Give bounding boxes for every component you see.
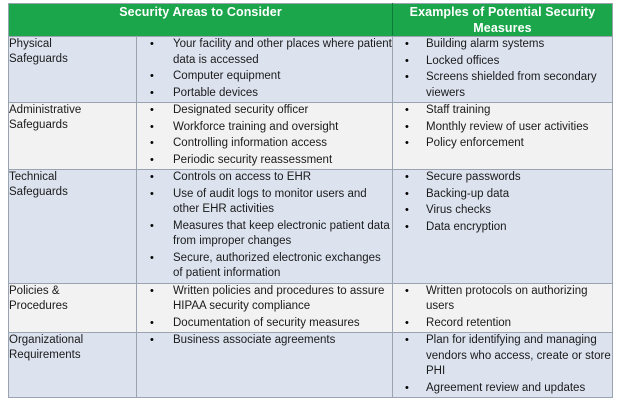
bullet-list-item: •Written policies and procedures to assu… bbox=[137, 284, 392, 315]
bullet-icon: • bbox=[150, 284, 154, 300]
row-category-label: Technical bbox=[9, 170, 136, 185]
bullet-list: •Plan for identifying and managing vendo… bbox=[393, 333, 612, 396]
bullet-item-text: Agreement review and updates bbox=[426, 382, 585, 394]
bullet-list-item: •Policy enforcement bbox=[393, 136, 612, 152]
bullet-list-item: •Monthly review of user activities bbox=[393, 120, 612, 136]
row-category-label: Policies & bbox=[9, 284, 136, 299]
row-category-label: Safeguards bbox=[9, 52, 136, 67]
bullet-icon: • bbox=[150, 333, 154, 349]
bullet-list-item: •Plan for identifying and managing vendo… bbox=[393, 333, 612, 380]
table-row: TechnicalSafeguards•Controls on access t… bbox=[9, 170, 613, 284]
bullet-list-item: •Backing-up data bbox=[393, 187, 612, 203]
bullet-icon: • bbox=[150, 316, 154, 332]
bullet-list-item: •Staff training bbox=[393, 103, 612, 119]
bullet-icon: • bbox=[405, 120, 409, 136]
bullet-list-item: •Business associate agreements bbox=[137, 333, 392, 349]
bullet-list-item: •Portable devices bbox=[137, 86, 392, 102]
bullet-icon: • bbox=[150, 187, 154, 203]
bullet-list-item: •Computer equipment bbox=[137, 69, 392, 85]
bullet-icon: • bbox=[150, 69, 154, 85]
bullet-icon: • bbox=[150, 136, 154, 152]
bullet-item-text: Record retention bbox=[426, 317, 511, 329]
bullet-icon: • bbox=[150, 170, 154, 186]
bullet-list-item: •Written protocols on authorizing users bbox=[393, 284, 612, 315]
bullet-list-item: •Screens shielded from secondary viewers bbox=[393, 70, 612, 101]
bullet-list-item: •Designated security officer bbox=[137, 103, 392, 119]
row-measures-cell: •Written protocols on authorizing users•… bbox=[393, 283, 613, 333]
bullet-item-text: Secure, authorized electronic exchanges … bbox=[173, 252, 381, 280]
bullet-item-text: Documentation of security measures bbox=[173, 317, 360, 329]
bullet-item-text: Building alarm systems bbox=[426, 38, 544, 50]
row-category-cell: Policies &Procedures bbox=[9, 283, 137, 333]
row-category-cell: PhysicalSafeguards bbox=[9, 37, 137, 103]
row-category-label: Requirements bbox=[9, 348, 136, 363]
table-body: PhysicalSafeguards•Your facility and oth… bbox=[9, 37, 613, 398]
row-category-label: Safeguards bbox=[9, 118, 136, 133]
bullet-item-text: Controlling information access bbox=[173, 137, 327, 149]
row-category-cell: TechnicalSafeguards bbox=[9, 170, 137, 284]
bullet-item-text: Screens shielded from secondary viewers bbox=[426, 71, 597, 99]
bullet-icon: • bbox=[405, 54, 409, 70]
bullet-icon: • bbox=[405, 316, 409, 332]
row-measures-cell: •Building alarm systems•Locked offices•S… bbox=[393, 37, 613, 103]
bullet-list-item: •Secure, authorized electronic exchanges… bbox=[137, 251, 392, 282]
bullet-icon: • bbox=[405, 187, 409, 203]
row-measures-cell: •Secure passwords•Backing-up data•Virus … bbox=[393, 170, 613, 284]
bullet-icon: • bbox=[150, 153, 154, 169]
table-row: AdministrativeSafeguards•Designated secu… bbox=[9, 103, 613, 170]
bullet-item-text: Portable devices bbox=[173, 87, 258, 99]
bullet-item-text: Your facility and other places where pat… bbox=[173, 38, 392, 66]
row-category-label: Procedures bbox=[9, 299, 136, 314]
bullet-icon: • bbox=[405, 70, 409, 86]
bullet-item-text: Written protocols on authorizing users bbox=[426, 285, 588, 313]
table-row: Policies &Procedures•Written policies an… bbox=[9, 283, 613, 333]
row-measures-cell: •Plan for identifying and managing vendo… bbox=[393, 333, 613, 398]
bullet-list-item: •Your facility and other places where pa… bbox=[137, 37, 392, 68]
bullet-list-item: •Virus checks bbox=[393, 203, 612, 219]
bullet-list: •Designated security officer•Workforce t… bbox=[137, 103, 392, 168]
bullet-item-text: Data encryption bbox=[426, 221, 507, 233]
bullet-icon: • bbox=[405, 136, 409, 152]
row-areas-cell: •Written policies and procedures to assu… bbox=[137, 283, 393, 333]
bullet-item-text: Use of audit logs to monitor users and o… bbox=[173, 188, 367, 216]
bullet-item-text: Designated security officer bbox=[173, 104, 308, 116]
row-category-label: Safeguards bbox=[9, 185, 136, 200]
security-table-container: Security Areas to Consider Examples of P… bbox=[8, 3, 612, 399]
column-header-security-measures: Examples of Potential Security Measures bbox=[393, 4, 613, 37]
bullet-item-text: Workforce training and oversight bbox=[173, 121, 338, 133]
bullet-list: •Written protocols on authorizing users•… bbox=[393, 284, 612, 332]
bullet-item-text: Computer equipment bbox=[173, 70, 280, 82]
bullet-list-item: •Measures that keep electronic patient d… bbox=[137, 219, 392, 250]
table-row: OrganizationalRequirements•Business asso… bbox=[9, 333, 613, 398]
bullet-list-item: •Secure passwords bbox=[393, 170, 612, 186]
bullet-item-text: Locked offices bbox=[426, 55, 499, 67]
column-header-security-areas: Security Areas to Consider bbox=[9, 4, 393, 37]
bullet-list: •Controls on access to EHR•Use of audit … bbox=[137, 170, 392, 282]
bullet-icon: • bbox=[150, 219, 154, 235]
bullet-item-text: Staff training bbox=[426, 104, 490, 116]
bullet-item-text: Monthly review of user activities bbox=[426, 121, 588, 133]
bullet-list: •Building alarm systems•Locked offices•S… bbox=[393, 37, 612, 101]
bullet-icon: • bbox=[405, 103, 409, 119]
bullet-list-item: •Data encryption bbox=[393, 220, 612, 236]
bullet-icon: • bbox=[150, 251, 154, 267]
row-category-label: Administrative bbox=[9, 103, 136, 118]
bullet-list-item: •Documentation of security measures bbox=[137, 316, 392, 332]
bullet-item-text: Plan for identifying and managing vendor… bbox=[426, 334, 611, 377]
bullet-icon: • bbox=[405, 220, 409, 236]
row-category-cell: AdministrativeSafeguards bbox=[9, 103, 137, 170]
bullet-item-text: Controls on access to EHR bbox=[173, 171, 311, 183]
bullet-list-item: •Controlling information access bbox=[137, 136, 392, 152]
security-areas-table: Security Areas to Consider Examples of P… bbox=[8, 3, 613, 398]
row-areas-cell: •Your facility and other places where pa… bbox=[137, 37, 393, 103]
bullet-list: •Business associate agreements bbox=[137, 333, 392, 349]
bullet-item-text: Virus checks bbox=[426, 204, 491, 216]
bullet-list-item: •Controls on access to EHR bbox=[137, 170, 392, 186]
bullet-item-text: Secure passwords bbox=[426, 171, 521, 183]
bullet-icon: • bbox=[405, 381, 409, 397]
bullet-list: •Staff training•Monthly review of user a… bbox=[393, 103, 612, 152]
header-row: Security Areas to Consider Examples of P… bbox=[9, 4, 613, 37]
bullet-item-text: Measures that keep electronic patient da… bbox=[173, 220, 390, 248]
row-category-cell: OrganizationalRequirements bbox=[9, 333, 137, 398]
bullet-icon: • bbox=[405, 333, 409, 349]
bullet-list-item: •Workforce training and oversight bbox=[137, 120, 392, 136]
bullet-item-text: Business associate agreements bbox=[173, 334, 335, 346]
bullet-icon: • bbox=[405, 37, 409, 53]
bullet-list: •Written policies and procedures to assu… bbox=[137, 284, 392, 332]
row-areas-cell: •Business associate agreements bbox=[137, 333, 393, 398]
bullet-list-item: •Locked offices bbox=[393, 54, 612, 70]
bullet-list-item: •Use of audit logs to monitor users and … bbox=[137, 187, 392, 218]
row-areas-cell: •Designated security officer•Workforce t… bbox=[137, 103, 393, 170]
bullet-icon: • bbox=[405, 284, 409, 300]
table-row: PhysicalSafeguards•Your facility and oth… bbox=[9, 37, 613, 103]
bullet-list: •Your facility and other places where pa… bbox=[137, 37, 392, 101]
bullet-list-item: •Periodic security reassessment bbox=[137, 153, 392, 169]
bullet-item-text: Backing-up data bbox=[426, 188, 509, 200]
row-areas-cell: •Controls on access to EHR•Use of audit … bbox=[137, 170, 393, 284]
bullet-list-item: •Agreement review and updates bbox=[393, 381, 612, 397]
bullet-icon: • bbox=[150, 120, 154, 136]
bullet-icon: • bbox=[150, 37, 154, 53]
row-measures-cell: •Staff training•Monthly review of user a… bbox=[393, 103, 613, 170]
bullet-icon: • bbox=[150, 103, 154, 119]
bullet-list-item: •Building alarm systems bbox=[393, 37, 612, 53]
bullet-icon: • bbox=[405, 170, 409, 186]
bullet-list: •Secure passwords•Backing-up data•Virus … bbox=[393, 170, 612, 235]
bullet-list-item: •Record retention bbox=[393, 316, 612, 332]
bullet-item-text: Periodic security reassessment bbox=[173, 154, 332, 166]
bullet-item-text: Policy enforcement bbox=[426, 137, 524, 149]
bullet-icon: • bbox=[405, 203, 409, 219]
table-header: Security Areas to Consider Examples of P… bbox=[9, 4, 613, 37]
bullet-icon: • bbox=[150, 86, 154, 102]
bullet-item-text: Written policies and procedures to assur… bbox=[173, 285, 384, 313]
row-category-label: Physical bbox=[9, 37, 136, 52]
row-category-label: Organizational bbox=[9, 333, 136, 348]
